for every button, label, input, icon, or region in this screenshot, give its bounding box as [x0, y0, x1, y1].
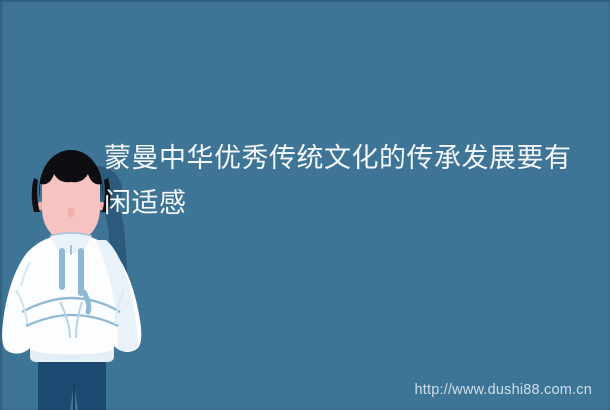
article-cover-banner: 蒙曼中华优秀传统文化的传承发展要有闲适感 http://www.dushi88.… — [0, 0, 610, 410]
pants — [38, 362, 106, 410]
drawstring-left — [59, 248, 65, 290]
nose — [67, 208, 74, 217]
drawstring-right — [78, 248, 84, 296]
page-title: 蒙曼中华优秀传统文化的传承发展要有闲适感 — [104, 136, 574, 226]
site-watermark: http://www.dushi88.com.cn — [415, 382, 592, 398]
